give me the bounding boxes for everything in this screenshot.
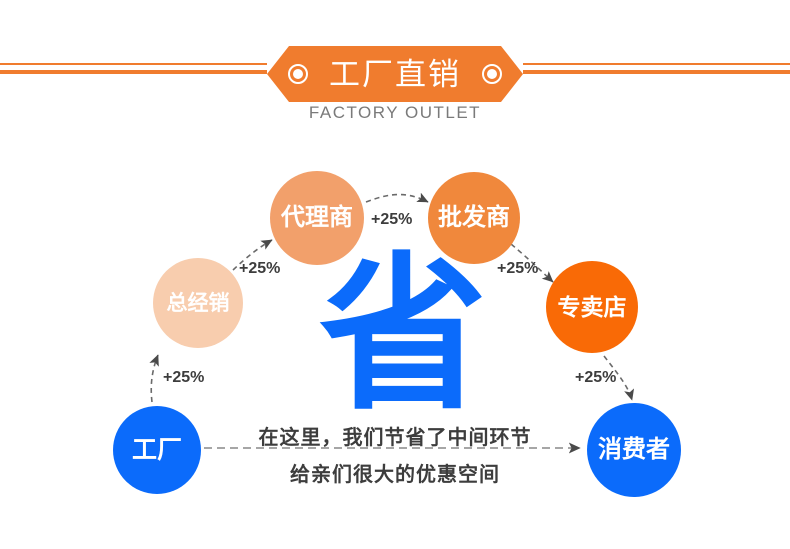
savings-glyph: 省 [318,250,488,420]
page-subtitle: FACTORY OUTLET [0,103,790,123]
markup-factory-to-general-agent: +25% [163,369,204,387]
markup-agent-to-wholesaler: +25% [371,211,412,229]
node-agent-label: 代理商 [281,206,353,230]
markup-store-to-consumer: +25% [575,369,616,387]
tagline-line-2: 给亲们很大的优惠空间 [230,458,560,487]
markup-general-agent-to-agent: +25% [239,260,280,278]
distribution-chain-diagram: 工厂 总经销 代理商 批发商 专卖店 消费者 +25% +25% +25% +2… [0,140,790,549]
node-store[interactable]: 专卖店 [546,261,638,353]
header-rule-left-thick [0,70,267,74]
node-general-agent[interactable]: 总经销 [153,258,243,348]
node-wholesaler-label: 批发商 [438,206,510,230]
node-factory[interactable]: 工厂 [113,406,201,494]
header-rule-left-thin [0,63,267,65]
markup-wholesaler-to-store: +25% [497,260,538,278]
node-general-agent-label: 总经销 [167,293,230,314]
tagline-line-1: 在这里，我们节省了中间环节 [230,421,560,450]
header-rule-right-thick [523,70,790,74]
node-factory-label: 工厂 [132,438,182,463]
page-title: 工厂直销 [267,46,523,102]
node-consumer-label: 消费者 [598,438,670,462]
node-consumer[interactable]: 消费者 [587,403,681,497]
header-rule-right-thin [523,63,790,65]
node-store-label: 专卖店 [558,296,627,319]
header-banner: 工厂直销 FACTORY OUTLET [0,0,790,140]
arrow-agent-to-wholesaler [366,195,428,203]
arrow-factory-to-general-agent [151,355,158,402]
